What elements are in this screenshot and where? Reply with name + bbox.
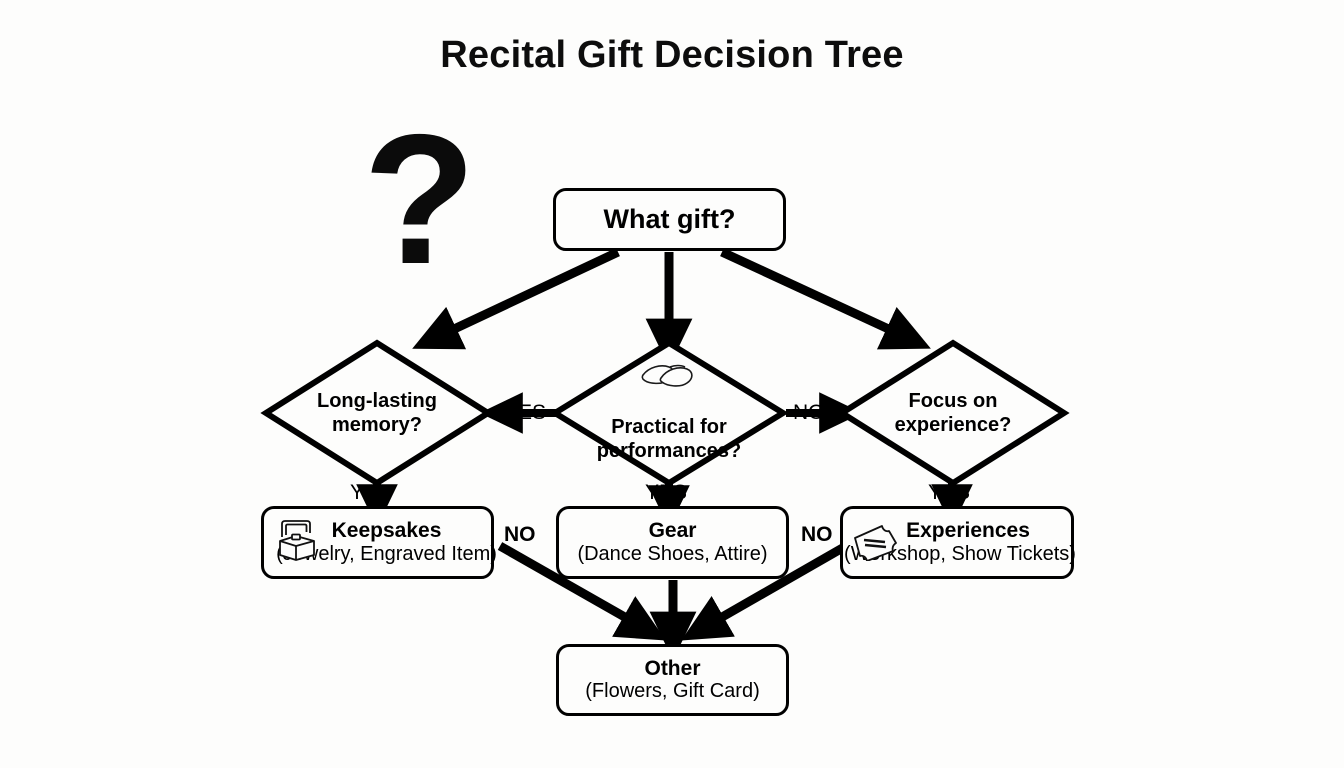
- result-keepsakes-title: Keepsakes: [332, 519, 442, 543]
- node-decision-practical-for-performances[interactable]: Practical for performances?: [551, 339, 787, 487]
- node-root-label: What gift?: [604, 204, 736, 234]
- edge-label-yes-center-left: YES: [504, 401, 546, 425]
- edge-label-yes-under-right: YES: [928, 481, 970, 505]
- node-result-experiences[interactable]: Experiences (Workshop, Show Tickets): [840, 506, 1074, 579]
- edge-root-to-left: [435, 252, 618, 338]
- jewelry-box-icon: [274, 517, 318, 565]
- node-result-gear[interactable]: Gear (Dance Shoes, Attire): [556, 506, 789, 579]
- node-result-other[interactable]: Other (Flowers, Gift Card): [556, 644, 789, 716]
- node-decision-long-lasting-memory[interactable]: Long-lasting memory?: [262, 339, 492, 487]
- diamond-shape-left: [262, 339, 492, 487]
- node-decision-focus-on-experience[interactable]: Focus on experience?: [838, 339, 1068, 487]
- ballet-shoes-icon: [639, 361, 701, 391]
- result-experiences-title: Experiences: [906, 519, 1030, 543]
- edge-label-yes-under-center: YES: [645, 481, 687, 505]
- diagram-canvas: Recital Gift Decision Tree ?: [0, 0, 1344, 768]
- edge-label-no-keepsakes: NO: [504, 523, 536, 547]
- edge-label-no-experiences: NO: [801, 523, 833, 547]
- result-other-detail: (Flowers, Gift Card): [585, 680, 759, 703]
- node-root-what-gift[interactable]: What gift?: [553, 188, 786, 251]
- result-gear-detail: (Dance Shoes, Attire): [577, 543, 767, 566]
- result-gear-title: Gear: [649, 519, 697, 543]
- node-result-keepsakes[interactable]: Keepsakes (Jewelry, Engraved Item): [261, 506, 494, 579]
- ticket-icon: [852, 521, 900, 561]
- edge-root-to-right: [722, 252, 908, 338]
- result-other-title: Other: [644, 657, 700, 681]
- edge-label-no-center-right: NO: [793, 401, 825, 425]
- edge-label-yes-under-left: YES: [350, 481, 392, 505]
- diamond-shape-right: [838, 339, 1068, 487]
